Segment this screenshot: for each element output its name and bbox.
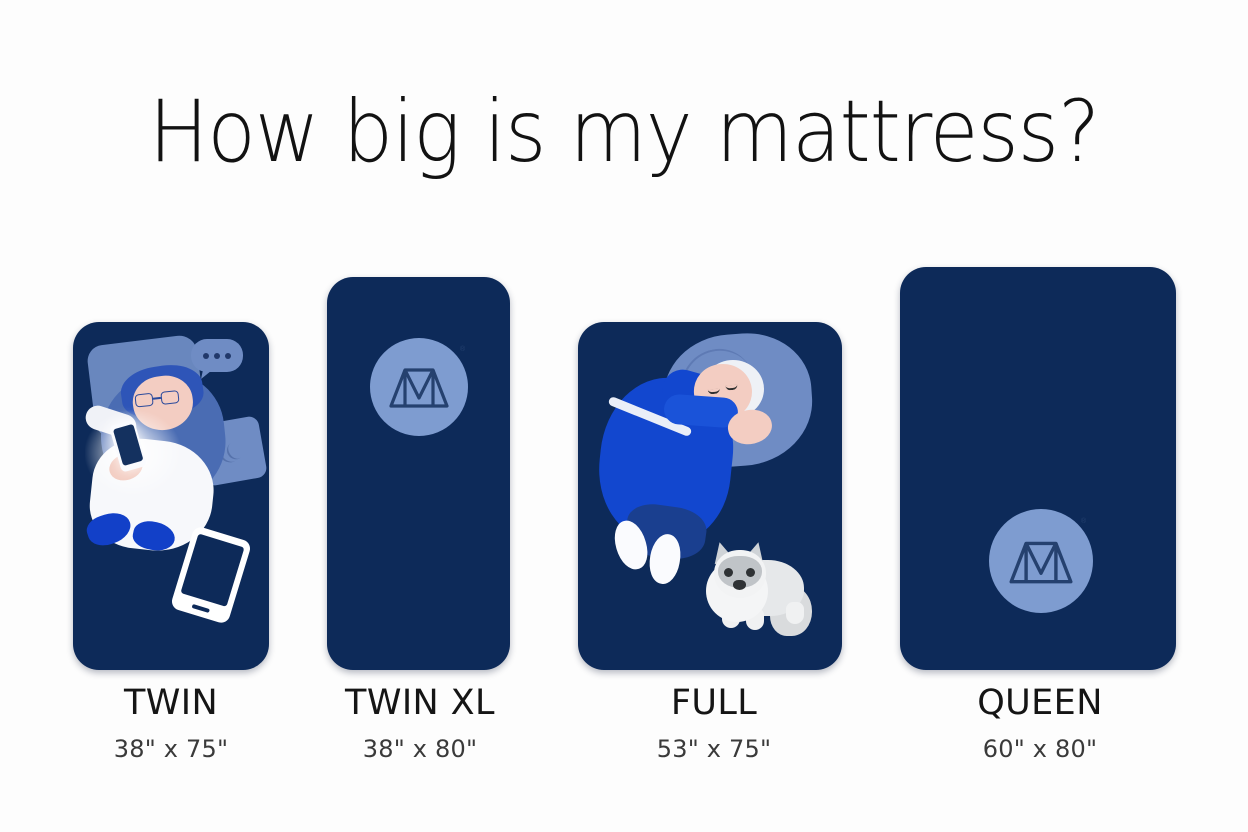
registered-trademark-mark-twin-xl: ® bbox=[460, 346, 465, 353]
size-name-full: FULL bbox=[590, 686, 838, 721]
label-block-full: FULL 53" x 75" bbox=[590, 686, 838, 763]
label-block-twin-xl: TWIN XL 38" x 80" bbox=[300, 686, 540, 763]
dog-icon bbox=[704, 544, 816, 636]
typing-bubble-icon bbox=[191, 339, 243, 372]
mattress-card-twin[interactable] bbox=[73, 322, 269, 670]
size-dimensions-twin: 38" x 75" bbox=[50, 735, 292, 763]
registered-trademark-mark-queen: ® bbox=[1081, 518, 1086, 525]
size-dimensions-queen: 60" x 80" bbox=[912, 735, 1168, 763]
size-name-twin-xl: TWIN XL bbox=[300, 686, 540, 721]
label-block-queen: QUEEN 60" x 80" bbox=[912, 686, 1168, 763]
brand-logo-badge-twin-xl bbox=[370, 338, 468, 436]
size-name-twin: TWIN bbox=[50, 686, 292, 721]
brand-logo-badge-queen bbox=[989, 509, 1093, 613]
size-name-queen: QUEEN bbox=[912, 686, 1168, 721]
mattress-card-full[interactable] bbox=[578, 322, 842, 670]
size-dimensions-twin-xl: 38" x 80" bbox=[300, 735, 540, 763]
mattress-card-twin-xl[interactable] bbox=[327, 277, 510, 670]
bubble-dots-icon bbox=[191, 339, 243, 372]
size-dimensions-full: 53" x 75" bbox=[590, 735, 838, 763]
mattress-size-comparison-infographic: How big is my mattress? bbox=[0, 0, 1248, 832]
page-title: How big is my mattress? bbox=[50, 82, 1198, 182]
label-block-twin: TWIN 38" x 75" bbox=[50, 686, 292, 763]
